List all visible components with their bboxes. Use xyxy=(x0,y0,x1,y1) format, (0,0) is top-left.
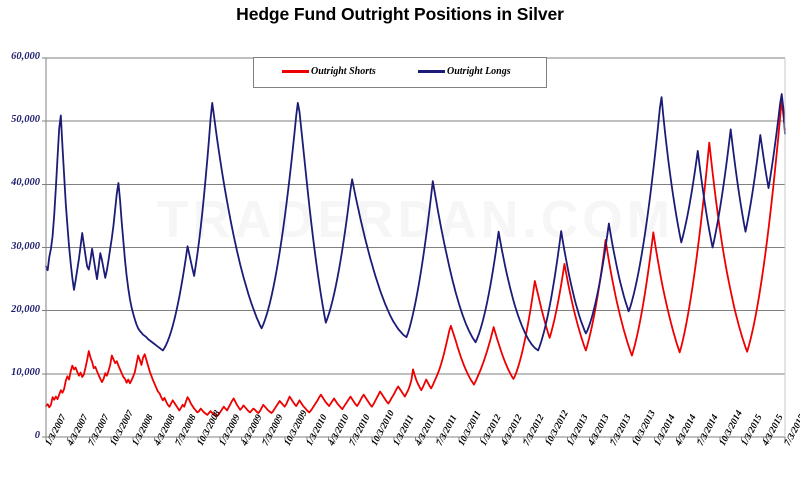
y-axis-tick-label: 10,000 xyxy=(0,367,40,378)
legend-item-label: Outright Shorts xyxy=(311,66,376,77)
legend-color-swatch-icon xyxy=(282,70,309,73)
legend-item-label: Outright Longs xyxy=(447,66,511,77)
y-axis-tick-label: 60,000 xyxy=(0,51,40,62)
y-axis-tick-label: 0 xyxy=(0,430,40,441)
chart-container: Hedge Fund Outright Positions in Silver … xyxy=(0,0,800,487)
y-axis-tick-label: 40,000 xyxy=(0,177,40,188)
series-line-outright-longs xyxy=(46,94,785,350)
y-axis-tick-label: 20,000 xyxy=(0,304,40,315)
y-axis-tick-label: 50,000 xyxy=(0,114,40,125)
legend-color-swatch-icon xyxy=(418,70,445,73)
legend-item-outright-longs[interactable]: Outright Longs xyxy=(418,66,511,77)
series-paths-group xyxy=(46,94,785,416)
legend-item-outright-shorts[interactable]: Outright Shorts xyxy=(282,66,376,77)
series-line-outright-shorts xyxy=(46,100,785,416)
y-axis-tick-label: 30,000 xyxy=(0,241,40,252)
legend: Outright ShortsOutright Longs xyxy=(253,57,547,88)
